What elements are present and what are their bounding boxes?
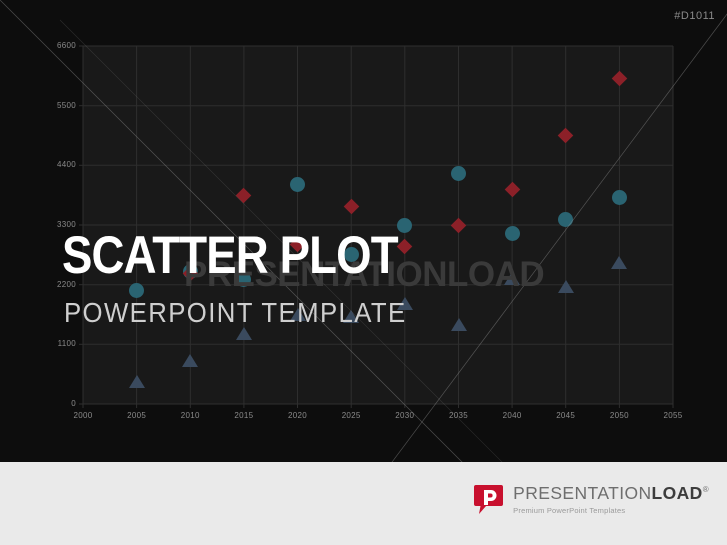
slide-code: #D1011 bbox=[674, 10, 715, 22]
scatter-point-circle bbox=[505, 226, 520, 241]
logo-tagline: Premium PowerPoint Templates bbox=[513, 507, 709, 515]
x-axis-tick-label: 2015 bbox=[224, 411, 264, 420]
scatter-point-triangle bbox=[451, 318, 467, 331]
logo-name-light: PRESENTATION bbox=[513, 483, 651, 503]
y-axis-tick-label: 0 bbox=[36, 399, 76, 408]
x-axis-tick-label: 2000 bbox=[63, 411, 103, 420]
y-axis-tick-label: 5500 bbox=[36, 101, 76, 110]
x-axis-tick-label: 2045 bbox=[546, 411, 586, 420]
footer: PRESENTATIONLOAD® Premium PowerPoint Tem… bbox=[0, 462, 727, 545]
scatter-point-triangle bbox=[129, 375, 145, 388]
y-axis-tick-label: 1100 bbox=[36, 339, 76, 348]
page-subtitle: POWERPOINT TEMPLATE bbox=[64, 297, 407, 329]
scatter-point-circle bbox=[451, 166, 466, 181]
x-axis-tick-label: 2025 bbox=[331, 411, 371, 420]
slide: 0110022003300440055006600200020052010201… bbox=[0, 0, 727, 545]
scatter-point-triangle bbox=[182, 354, 198, 367]
x-axis-tick-label: 2030 bbox=[385, 411, 425, 420]
x-axis-tick-label: 2010 bbox=[170, 411, 210, 420]
x-axis-tick-label: 2020 bbox=[278, 411, 318, 420]
page-title: SCATTER PLOT bbox=[62, 229, 398, 282]
x-axis-tick-label: 2055 bbox=[653, 411, 693, 420]
registered-trademark-icon: ® bbox=[703, 485, 709, 494]
scatter-point-circle bbox=[290, 177, 305, 192]
x-axis-tick-label: 2005 bbox=[117, 411, 157, 420]
presentationload-logo[interactable]: PRESENTATIONLOAD® Premium PowerPoint Tem… bbox=[473, 484, 709, 515]
scatter-point-triangle bbox=[558, 280, 574, 293]
scatter-point-triangle bbox=[611, 256, 627, 269]
speech-bubble-p-icon bbox=[473, 484, 504, 515]
y-axis-tick-label: 4400 bbox=[36, 160, 76, 169]
x-axis-tick-label: 2035 bbox=[439, 411, 479, 420]
x-axis-tick-label: 2040 bbox=[492, 411, 532, 420]
scatter-point-circle bbox=[397, 218, 412, 233]
x-axis-tick-label: 2050 bbox=[599, 411, 639, 420]
logo-name-bold: LOAD bbox=[652, 483, 703, 503]
y-axis-tick-label: 6600 bbox=[36, 41, 76, 50]
